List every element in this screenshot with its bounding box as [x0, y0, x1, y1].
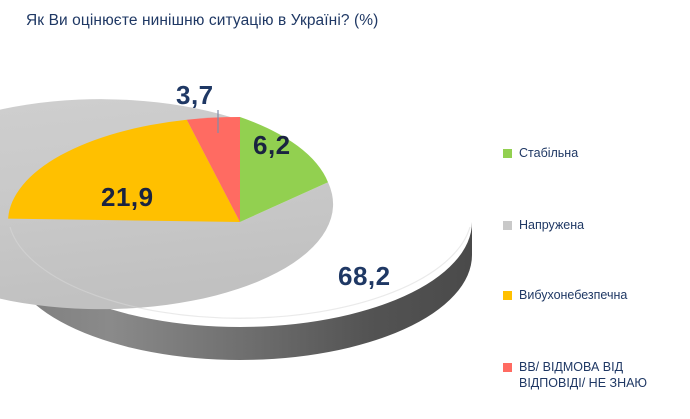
- legend-item-vybuhonebezpechna[interactable]: Вибухонебезпечна: [503, 287, 627, 303]
- legend-label-vybuhonebezpechna: Вибухонебезпечна: [519, 287, 627, 303]
- value-label-napruzhena: 68,2: [338, 261, 391, 292]
- legend-swatch-gray-icon: [503, 221, 512, 230]
- value-label-stabilna: 6,2: [253, 130, 291, 161]
- legend-swatch-green-icon: [503, 149, 512, 158]
- legend-swatch-red-icon: [503, 363, 512, 372]
- legend-item-napruzhena[interactable]: Напружена: [503, 217, 584, 233]
- value-label-vv-vidmova: 3,7: [176, 80, 214, 111]
- chart-title: Як Ви оцінюєте нинішню ситуацію в Україн…: [26, 12, 378, 30]
- legend-label-stabilna: Стабільна: [519, 145, 578, 161]
- legend-label-vv-vidmova: ВВ/ ВІДМОВА ВІД ВІДПОВІДІ/ НЕ ЗНАЮ: [519, 359, 647, 391]
- legend-item-stabilna[interactable]: Стабільна: [503, 145, 578, 161]
- value-label-vybuhonebezpechna: 21,9: [101, 182, 154, 213]
- pie-chart-figure: Як Ви оцінюєте нинішню ситуацію в Україн…: [0, 0, 690, 419]
- pie-chart-graphic: [0, 55, 490, 419]
- legend-item-vv-vidmova[interactable]: ВВ/ ВІДМОВА ВІД ВІДПОВІДІ/ НЕ ЗНАЮ: [503, 359, 647, 391]
- legend-swatch-yellow-icon: [503, 291, 512, 300]
- legend-label-napruzhena: Напружена: [519, 217, 584, 233]
